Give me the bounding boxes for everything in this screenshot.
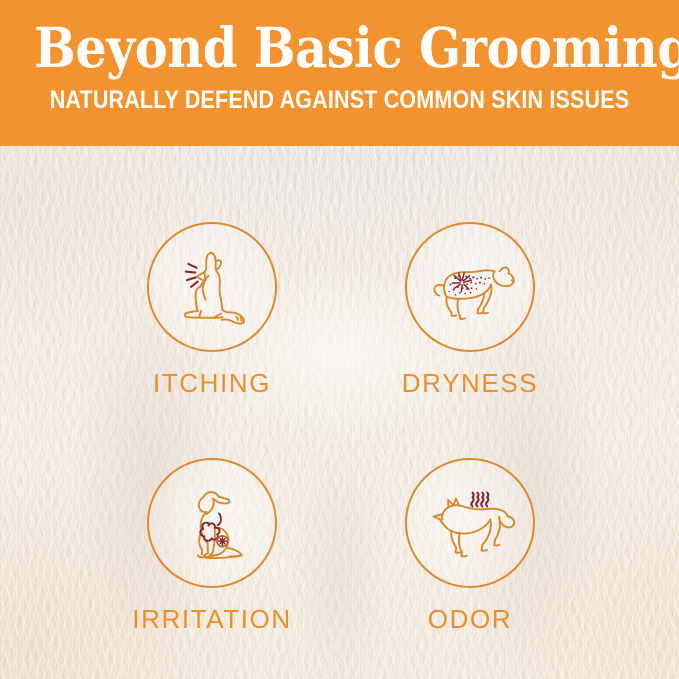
benefits-grid: ITCHING	[0, 146, 679, 679]
dog-odor-icon	[405, 458, 535, 588]
dog-scratching-icon	[147, 222, 277, 352]
header-banner: Beyond Basic Grooming NATURALLY DEFEND A…	[0, 0, 679, 146]
feature-label-dryness: DRYNESS	[355, 368, 585, 398]
feature-label-odor: ODOR	[355, 604, 585, 634]
dog-dry-flaky-skin-icon	[405, 222, 535, 352]
dog-irritated-skin-icon	[147, 458, 277, 588]
feature-item-dryness[interactable]: DRYNESS	[355, 222, 585, 398]
feature-label-itching: ITCHING	[97, 368, 327, 398]
feature-item-irritation[interactable]: IRRITATION	[97, 458, 327, 634]
page-title: Beyond Basic Grooming	[34, 0, 645, 80]
page-subtitle: NATURALLY DEFEND AGAINST COMMON SKIN ISS…	[48, 80, 632, 114]
feature-item-itching[interactable]: ITCHING	[97, 222, 327, 398]
feature-item-odor[interactable]: ODOR	[355, 458, 585, 634]
feature-label-irritation: IRRITATION	[97, 604, 327, 634]
grooming-benefits-poster: Beyond Basic Grooming NATURALLY DEFEND A…	[0, 0, 679, 679]
